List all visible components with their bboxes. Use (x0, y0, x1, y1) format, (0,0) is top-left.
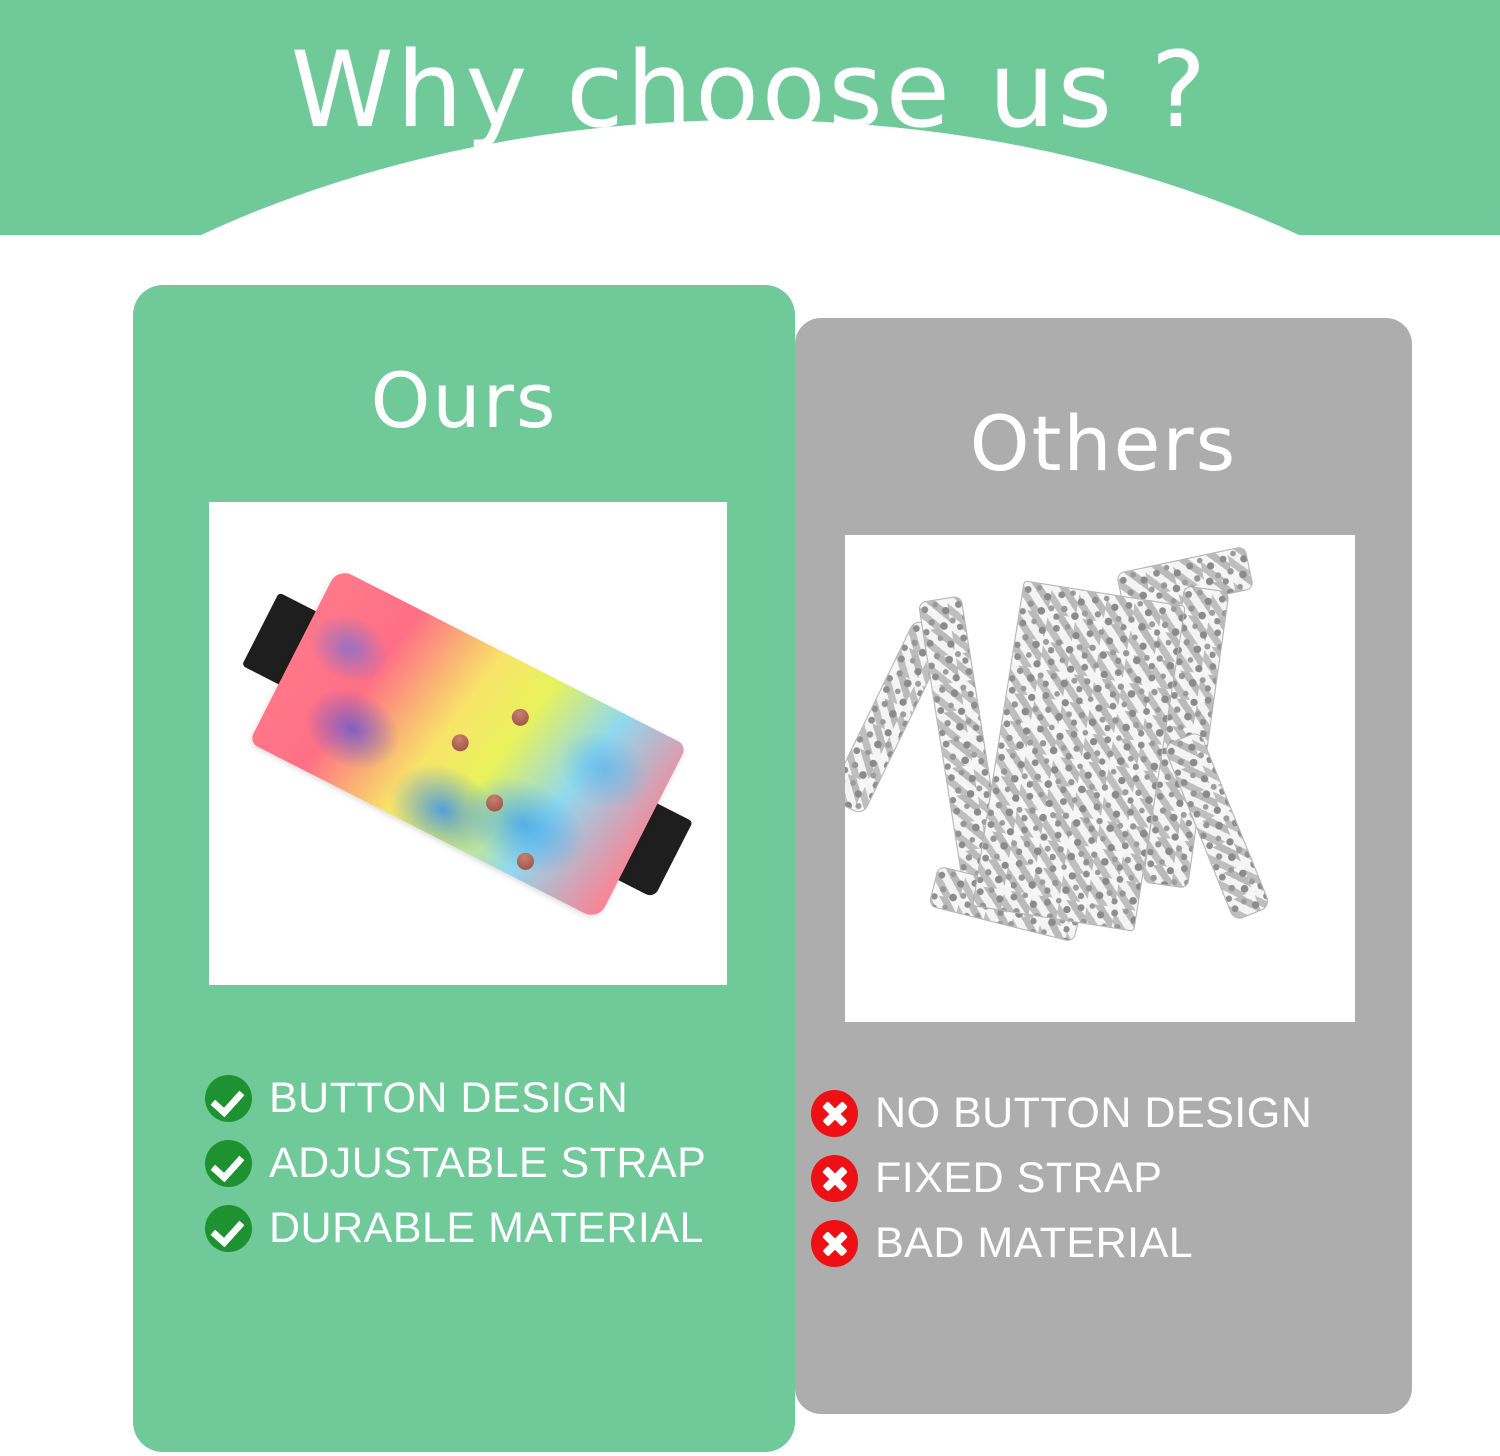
ours-feature-list: BUTTON DESIGN ADJUSTABLE STRAP DURABLE M… (133, 1075, 795, 1270)
others-card: Others NO BUTTON DESIGN FIXED STRAP (795, 318, 1412, 1414)
snap-button (449, 731, 472, 754)
cross-circle-icon (811, 1090, 858, 1137)
check-circle-icon (205, 1205, 252, 1252)
page-title: Why choose us ? (0, 38, 1500, 142)
check-circle-icon (205, 1075, 252, 1122)
tie-dye-band-body (249, 567, 687, 920)
ours-feature-label: DURABLE MATERIAL (269, 1206, 704, 1251)
comparison-infographic: Why choose us ? Others NO BUTTON DESIGN (0, 0, 1500, 1456)
others-feature-label: FIXED STRAP (875, 1156, 1162, 1201)
tie-dye-band-illustration (209, 502, 727, 985)
ours-card: Ours BUTTON DESIGN ADJUSTABLE STRA (133, 285, 795, 1452)
list-item: FIXED STRAP (811, 1155, 1412, 1202)
ours-card-heading: Ours (133, 363, 795, 439)
gray-floral-strap-illustration (845, 535, 1355, 1022)
check-circle-icon (205, 1140, 252, 1187)
cross-circle-icon (811, 1155, 858, 1202)
others-card-heading: Others (795, 406, 1412, 482)
snap-button (483, 791, 506, 814)
cross-circle-icon (811, 1220, 858, 1267)
ours-feature-label: BUTTON DESIGN (269, 1076, 628, 1121)
list-item: BUTTON DESIGN (205, 1075, 795, 1122)
others-feature-label: NO BUTTON DESIGN (875, 1091, 1312, 1136)
snap-button (514, 849, 537, 872)
others-feature-label: BAD MATERIAL (875, 1221, 1193, 1266)
ours-product-photo (209, 502, 727, 985)
others-product-photo (845, 535, 1355, 1022)
ours-feature-label: ADJUSTABLE STRAP (269, 1141, 706, 1186)
list-item: NO BUTTON DESIGN (811, 1090, 1412, 1137)
snap-button (509, 705, 532, 728)
list-item: BAD MATERIAL (811, 1220, 1412, 1267)
list-item: DURABLE MATERIAL (205, 1205, 795, 1252)
others-feature-list: NO BUTTON DESIGN FIXED STRAP BAD MATERIA… (795, 1090, 1412, 1285)
list-item: ADJUSTABLE STRAP (205, 1140, 795, 1187)
